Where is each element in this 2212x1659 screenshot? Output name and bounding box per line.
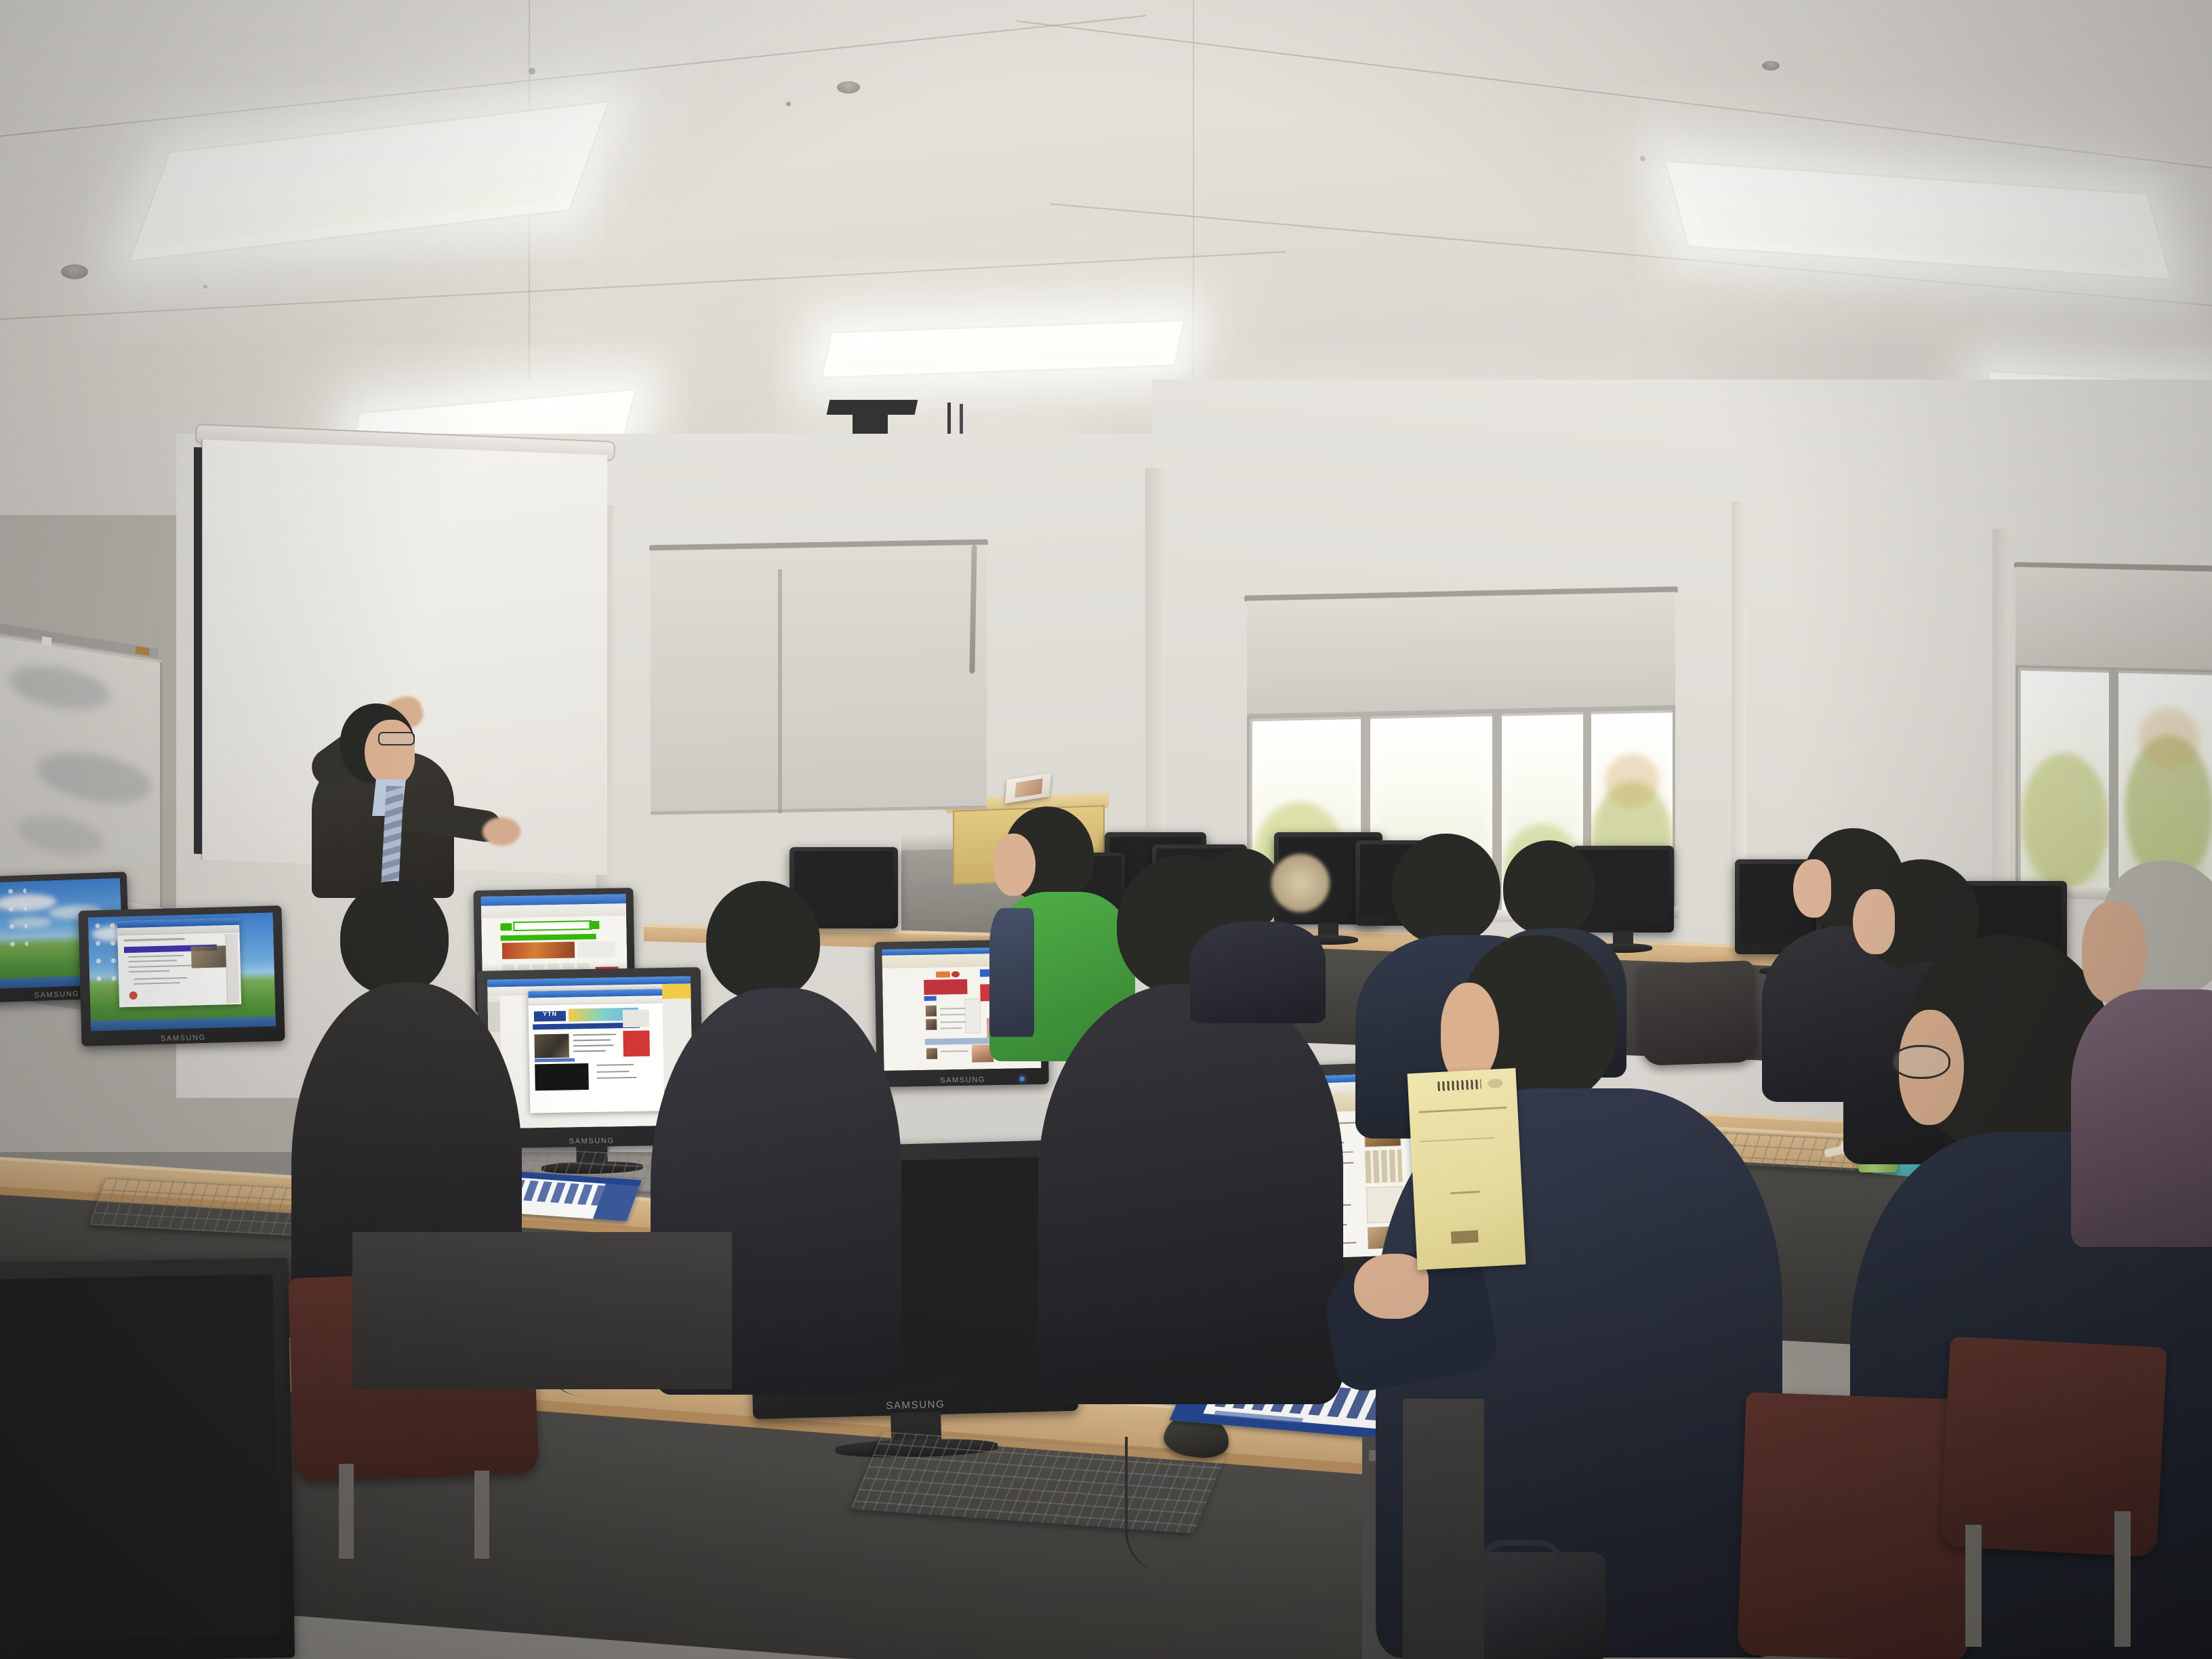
yellow-folder[interactable] <box>1408 1068 1526 1270</box>
vest-inner-sleeve <box>989 908 1034 1037</box>
glasses-icon <box>1892 1045 1950 1079</box>
ytn-browser-window[interactable]: YTN <box>528 989 664 1113</box>
smoke-detector-icon <box>1762 61 1780 70</box>
naver-search-button[interactable] <box>589 921 599 929</box>
classroom-photo: SAMSUNG <box>0 0 2212 1659</box>
chair-back-row[interactable] <box>1638 960 1757 1066</box>
student-fur-hood <box>1190 840 1332 1010</box>
desk-divider <box>352 1232 732 1389</box>
bag-handle <box>1477 1540 1565 1567</box>
glasses-icon <box>378 732 415 745</box>
monitor-browser-left[interactable]: SAMSUNG <box>78 905 285 1046</box>
whiteboard[interactable] <box>0 634 163 912</box>
monitor-brand-label: SAMSUNG <box>161 1033 206 1043</box>
naver-search-box[interactable] <box>513 920 592 931</box>
monitor-brand-label: SAMSUNG <box>34 990 79 1000</box>
roller-blind[interactable] <box>2015 567 2212 673</box>
ytn-video-player <box>535 1063 589 1090</box>
ytn-logo: YTN <box>534 1011 567 1021</box>
folder-barcode <box>1437 1080 1481 1091</box>
desk-divider <box>1403 1399 1484 1659</box>
smoke-detector-icon <box>61 264 88 279</box>
projection-screen-edge <box>194 447 202 854</box>
cable <box>1125 1437 1206 1572</box>
instructor-face <box>365 720 415 785</box>
red-banner <box>924 979 968 995</box>
monitor-brand-label: SAMSUNG <box>886 1399 945 1412</box>
monitor-brand-label: SAMSUNG <box>940 1076 985 1084</box>
chair-leg <box>339 1464 354 1559</box>
whiteboard-marker[interactable] <box>42 636 52 646</box>
roller-blind[interactable] <box>1247 592 1675 717</box>
smoke-detector-icon <box>837 81 860 94</box>
monitor-foreground-left[interactable] <box>0 1258 295 1659</box>
blind-seam <box>778 569 782 813</box>
fur-trim <box>1271 854 1330 912</box>
instructor <box>298 684 529 895</box>
instructor-pointing-hand <box>483 817 520 846</box>
chair-leg <box>2114 1511 2131 1647</box>
chair-leg <box>474 1471 489 1559</box>
student-grey-hair-purple <box>2033 861 2212 1240</box>
screen-browser-left[interactable] <box>87 912 275 1031</box>
monitor-brand-label: SAMSUNG <box>569 1136 615 1145</box>
chair-leg <box>1965 1525 1982 1647</box>
roller-blind[interactable] <box>651 545 987 815</box>
